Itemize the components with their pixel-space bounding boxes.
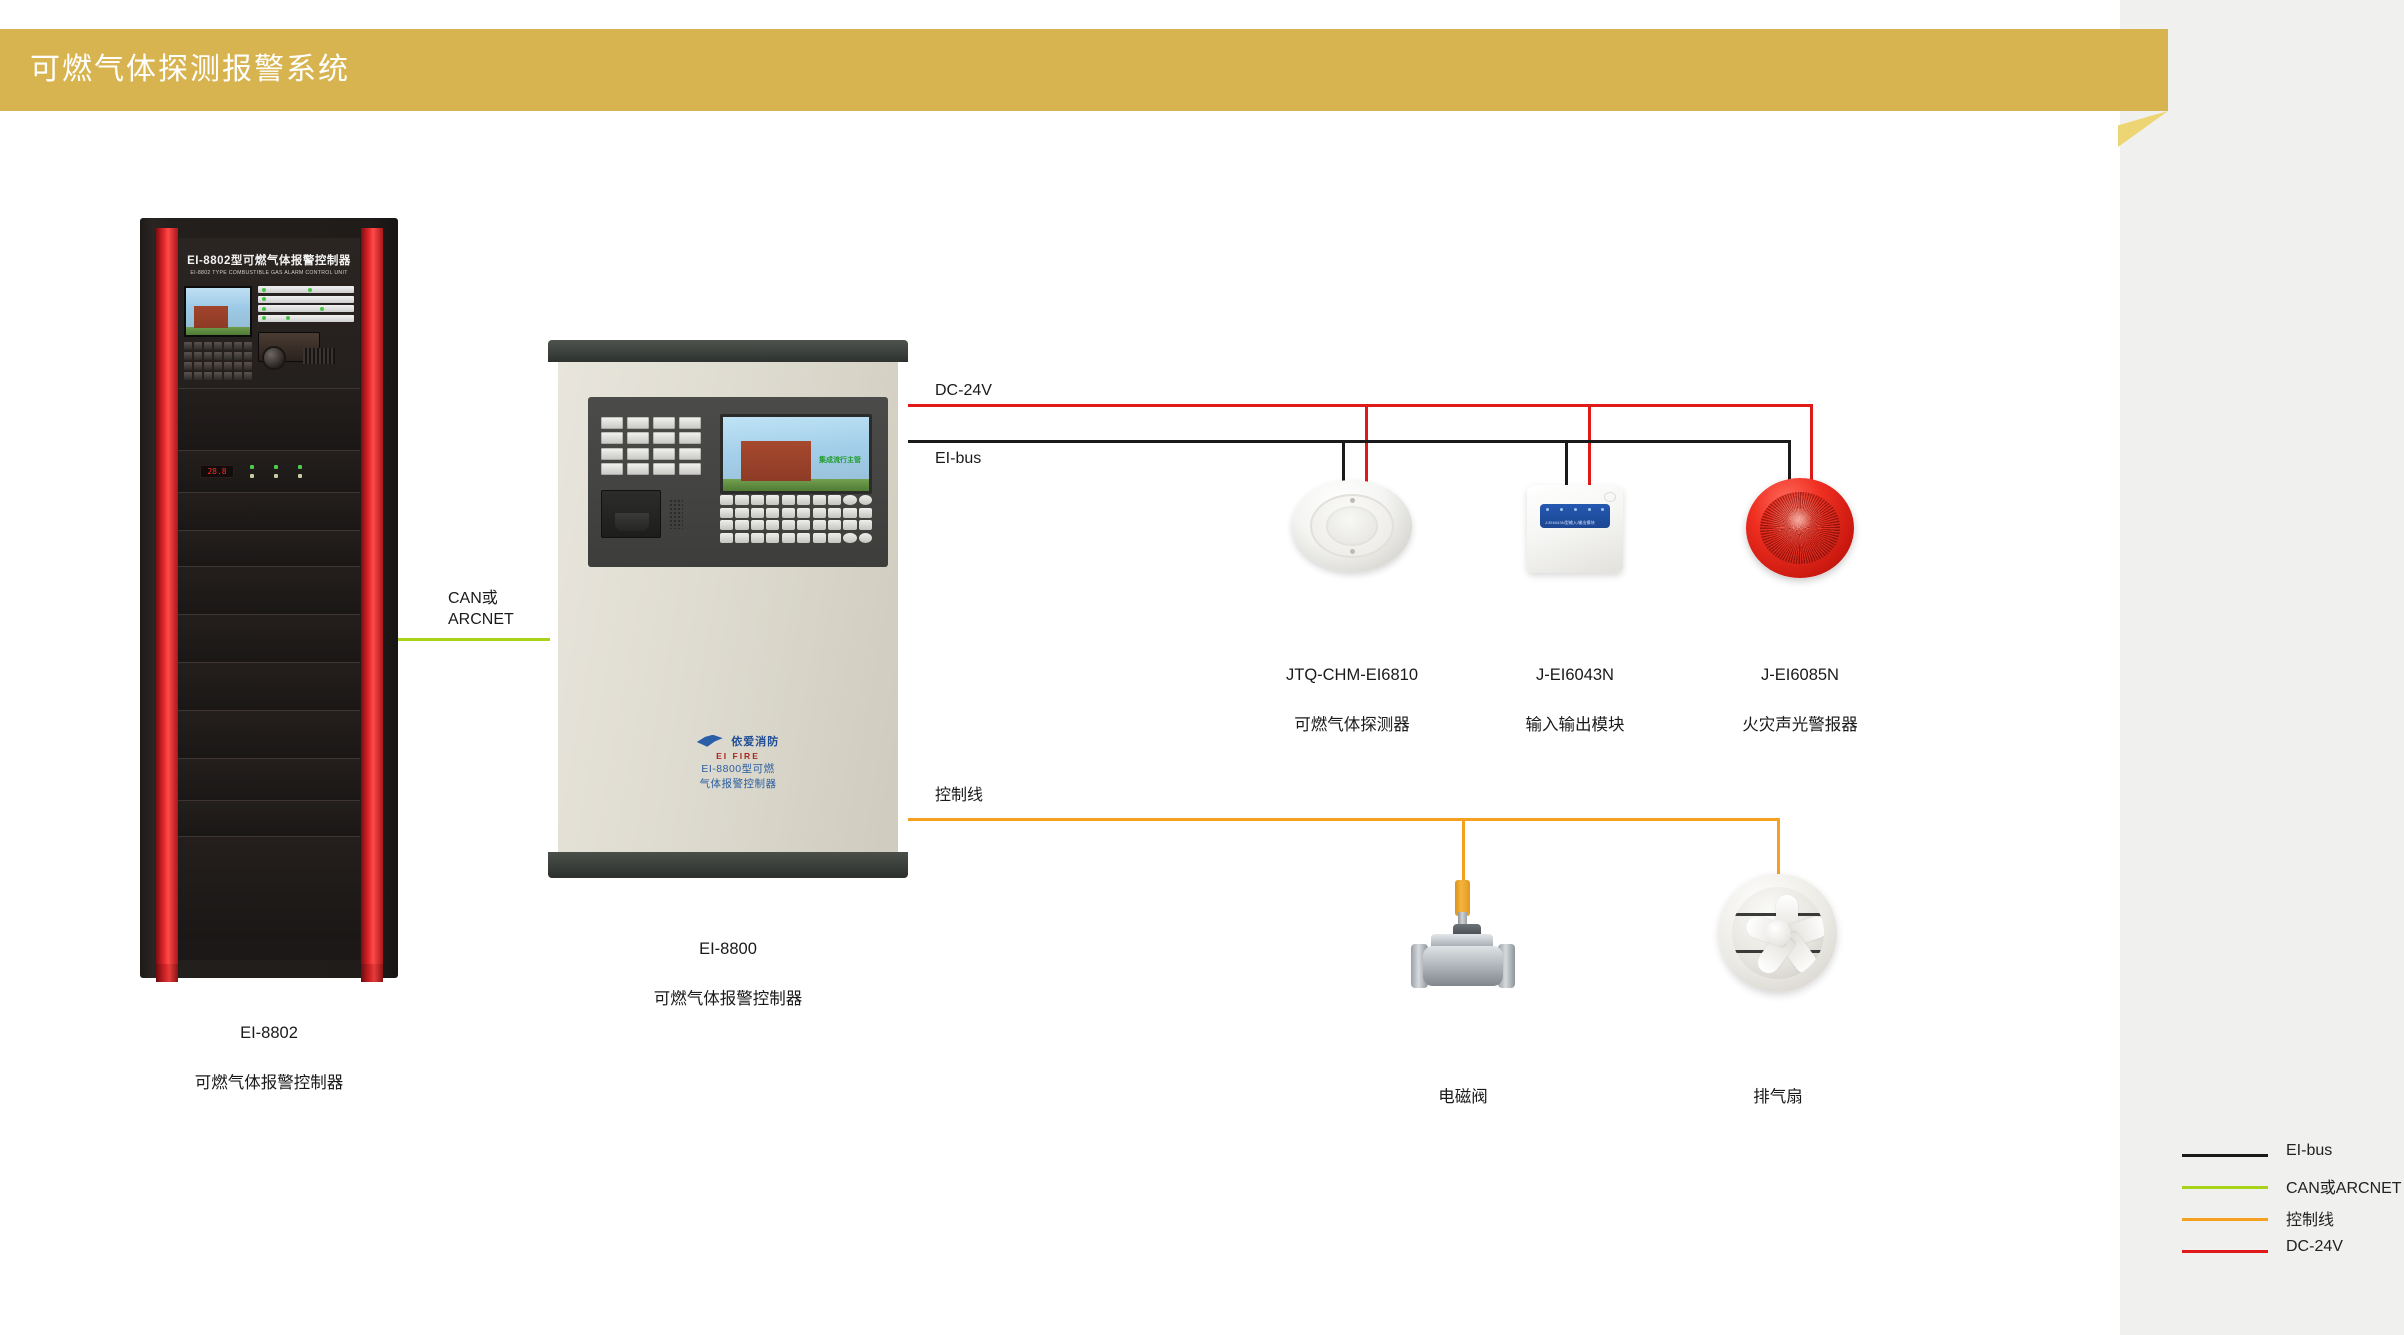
caption-sound-light-alarm: J-EI6085N 火灾声光警报器 — [1680, 638, 1920, 763]
ccc-certification-icon — [1604, 492, 1616, 502]
module-strip-text: J-EI6043N型输入/输出模块 — [1545, 520, 1606, 526]
fan-hub — [1765, 920, 1791, 946]
cabinet-red-pillar-left — [156, 228, 178, 966]
caption-io-module: J-EI6043N 输入输出模块 — [1455, 638, 1695, 763]
caption-exhaust-fan: 排气扇 — [1718, 1060, 1838, 1135]
wall-keypad[interactable] — [720, 495, 872, 543]
cabinet-speaker-grille — [303, 348, 335, 364]
valve-body — [1423, 946, 1503, 986]
cabinet-shelf — [178, 614, 360, 662]
cabinet-shelf — [178, 566, 360, 614]
brand-model-line1: EI-8800型可燃 — [658, 762, 818, 777]
caption-ei8800: EI-8800 可燃气体报警控制器 — [548, 912, 908, 1037]
device-ei8802-cabinet[interactable]: EI-8802型可燃气体报警控制器 EI-8802 TYPE COMBUSTIB… — [140, 218, 398, 978]
caption-sounder-model: J-EI6085N — [1680, 663, 1920, 688]
legend-label-ei-bus: EI-bus — [2286, 1142, 2332, 1160]
cabinet-led-rows — [258, 286, 354, 328]
legend-swatch-ei-bus — [2182, 1154, 2268, 1157]
brand-name-en: EI FIRE — [658, 750, 818, 762]
device-io-module[interactable]: J-EI6043N型输入/输出模块 — [1527, 485, 1623, 573]
wire-label-can-arcnet: CAN或 ARCNET — [448, 588, 514, 630]
legend-item: EI-bus — [2182, 1141, 2392, 1173]
caption-detector-model: JTQ-CHM-EI6810 — [1232, 663, 1472, 688]
wall-indicator-lamps — [601, 417, 701, 475]
wire-control-trunk — [908, 818, 1778, 821]
legend-swatch-can-arcnet — [2182, 1186, 2268, 1189]
cabinet-shelf — [178, 388, 360, 450]
cabinet-rotary-knob[interactable] — [262, 346, 286, 370]
detector-inner-cap — [1326, 506, 1378, 546]
page-title: 可燃气体探测报警系统 — [30, 50, 350, 90]
wire-can-arcnet — [398, 638, 550, 641]
cabinet-shelf — [178, 710, 360, 758]
wire-eibus-trunk — [908, 440, 1791, 443]
cabinet-nameplate-zh: EI-8802型可燃气体报警控制器 — [180, 254, 358, 269]
wall-lcd-screen[interactable]: 集成流行主管 — [720, 414, 872, 494]
wire-label-dc24v: DC-24V — [935, 380, 992, 401]
device-sound-light-alarm[interactable] — [1746, 478, 1854, 578]
legend: EI-bus CAN或ARCNET 控制线 DC-24V — [2182, 1141, 2392, 1269]
caption-ei8802-desc: 可燃气体报警控制器 — [140, 1071, 398, 1096]
caption-ei8802: EI-8802 可燃气体报警控制器 — [140, 996, 398, 1121]
banner-ribbon-fold — [2118, 111, 2168, 147]
cabinet-nameplate-en: EI-8802 TYPE COMBUSTIBLE GAS ALARM CONTR… — [180, 269, 358, 278]
caption-sounder-desc: 火灾声光警报器 — [1680, 713, 1920, 738]
legend-swatch-dc24v — [2182, 1250, 2268, 1253]
cabinet-status-leds — [250, 465, 320, 479]
legend-label-control: 控制线 — [2286, 1206, 2334, 1230]
caption-valve-desc: 电磁阀 — [1403, 1085, 1523, 1110]
cabinet-shelf — [178, 758, 360, 800]
cabinet-nameplate: EI-8802型可燃气体报警控制器 EI-8802 TYPE COMBUSTIB… — [180, 254, 358, 282]
valve-actuator-stem — [1455, 880, 1470, 916]
legend-swatch-control — [2182, 1218, 2268, 1221]
device-gas-detector[interactable] — [1292, 480, 1412, 572]
detector-screw-icon — [1350, 498, 1355, 503]
cabinet-shelf — [178, 662, 360, 710]
legend-item: 控制线 — [2182, 1205, 2392, 1237]
device-ei8800-panel[interactable]: 集成流行主管 依爱消防 EI FIRE EI-8800型可燃 气体报警控制器 — [548, 340, 908, 890]
device-solenoid-valve[interactable] — [1409, 880, 1517, 990]
lcd-grass — [186, 327, 250, 335]
device-exhaust-fan[interactable] — [1719, 874, 1837, 992]
caption-gas-detector: JTQ-CHM-EI6810 可燃气体探测器 — [1232, 638, 1472, 763]
caption-module-desc: 输入输出模块 — [1455, 713, 1695, 738]
detector-screw-icon — [1350, 549, 1355, 554]
wire-control-drop-fan — [1777, 818, 1780, 880]
wire-label-control: 控制线 — [935, 785, 983, 806]
cabinet-shelf — [178, 492, 360, 530]
cabinet-shelf — [178, 800, 360, 836]
legend-item: CAN或ARCNET — [2182, 1173, 2392, 1205]
lcd-building — [194, 306, 228, 328]
wire-control-drop-valve — [1462, 818, 1465, 886]
caption-ei8800-model: EI-8800 — [548, 937, 908, 962]
sounder-highlight — [1786, 508, 1812, 532]
wall-speaker-grille — [669, 499, 683, 529]
cabinet-keypad[interactable] — [184, 342, 252, 380]
wall-panel-controls[interactable]: 集成流行主管 — [588, 397, 888, 567]
wall-panel-branding: 依爱消防 EI FIRE EI-8800型可燃 气体报警控制器 — [658, 732, 818, 792]
caption-ei8802-model: EI-8802 — [140, 1021, 398, 1046]
wall-printer-slot[interactable] — [601, 490, 661, 538]
fan-well — [1732, 887, 1824, 979]
caption-fan-desc: 排气扇 — [1718, 1085, 1838, 1110]
caption-module-model: J-EI6043N — [1455, 663, 1695, 688]
cabinet-display-value: 28.8 — [207, 467, 226, 476]
wall-lcd-building — [741, 441, 811, 481]
cabinet-digital-display: 28.8 — [200, 465, 234, 478]
brand-model-line2: 气体报警控制器 — [658, 777, 818, 792]
wall-panel-top-cap — [548, 340, 908, 362]
legend-label-dc24v: DC-24V — [2286, 1238, 2343, 1256]
caption-ei8800-desc: 可燃气体报警控制器 — [548, 987, 908, 1012]
wire-dc24v-trunk — [908, 404, 1813, 407]
caption-detector-desc: 可燃气体探测器 — [1232, 713, 1472, 738]
module-label-strip: J-EI6043N型输入/输出模块 — [1540, 504, 1610, 528]
caption-solenoid-valve: 电磁阀 — [1403, 1060, 1523, 1135]
legend-item: DC-24V — [2182, 1237, 2392, 1269]
legend-label-can-arcnet: CAN或ARCNET — [2286, 1174, 2402, 1198]
ei-fire-logo-icon — [697, 735, 723, 747]
cabinet-shelf — [178, 836, 360, 940]
cabinet-red-pillar-right — [361, 228, 383, 966]
brand-name-cn: 依爱消防 — [731, 736, 779, 748]
cabinet-lcd-screen[interactable] — [184, 286, 252, 337]
wall-lcd-slogan: 集成流行主管 — [819, 455, 861, 465]
wire-label-eibus: EI-bus — [935, 448, 981, 469]
cabinet-shelf — [178, 530, 360, 566]
wall-panel-bottom-cap — [548, 852, 908, 878]
diagram-page: 可燃气体探测报警系统 EI-8802型可燃气体报警控制器 EI-8802 TYP… — [0, 0, 2404, 1335]
